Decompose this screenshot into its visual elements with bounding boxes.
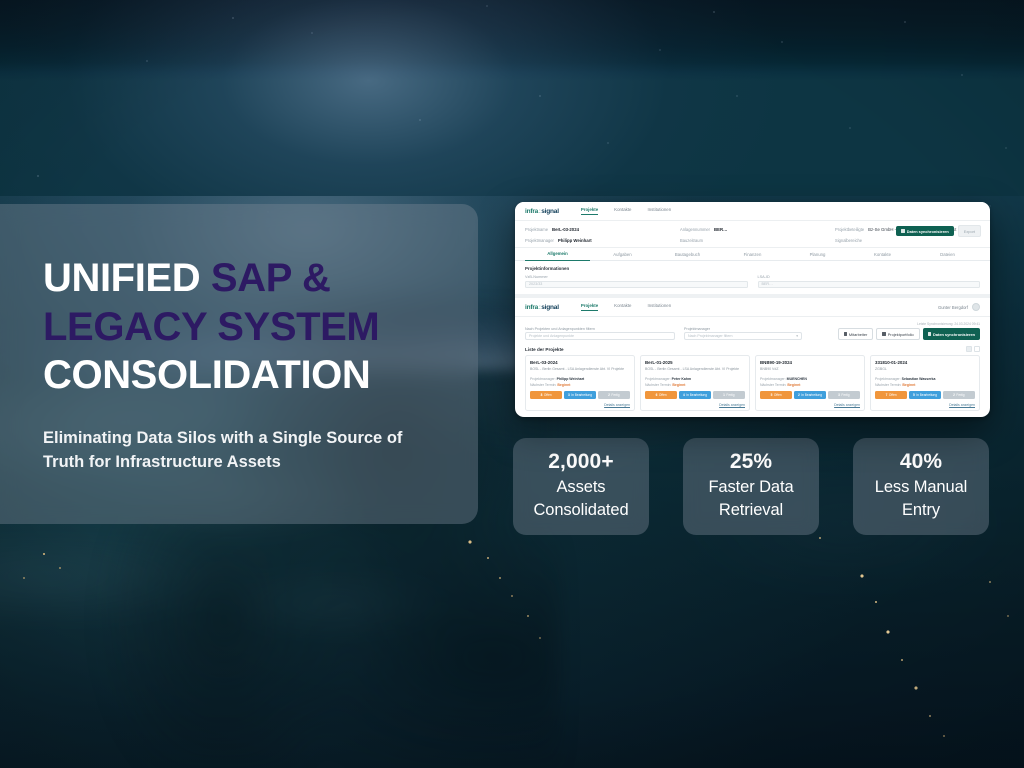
tab-finanzen[interactable]: Finanzen [720, 248, 785, 260]
badge-label: In Bearbeitung [801, 393, 822, 397]
manager-key: Projektmanager: [760, 377, 786, 381]
meta-signalbereiche: Signalbereiche [835, 238, 980, 243]
badge-count: 2 [608, 393, 610, 397]
badge-count: 3 [838, 393, 840, 397]
project-card-description: BNB90 VdZ [760, 367, 860, 375]
projektportfolio-button-label: Projektportfolio [888, 332, 914, 337]
filter-manager: Projektmanager Nach Projektmanager filte… [684, 327, 802, 341]
badge-count: 2 [953, 393, 955, 397]
headline-panel: UNIFIED SAP & LEGACY SYSTEM CONSOLIDATIO… [0, 204, 478, 524]
badge-count: 2 [798, 393, 800, 397]
meta-key: Signalbereiche [835, 238, 862, 243]
badge-label: Offen [544, 393, 552, 397]
stat-value: 2,000+ [529, 450, 633, 475]
user-area[interactable]: Gunter Bergdorf [938, 303, 980, 311]
slide-canvas: UNIFIED SAP & LEGACY SYSTEM CONSOLIDATIO… [0, 0, 1024, 768]
filter-actions: Letzte Synchronisierung: 24.03.2024 09:4… [838, 322, 980, 340]
filter-label: Nach Projekten und Anlagenpunkten filter… [525, 327, 675, 331]
stat-label-line-2: Entry [869, 500, 973, 521]
status-badge-fertig[interactable]: 2 Fertig [943, 391, 975, 399]
project-card-manager: Projektmanager: Sebastian Wasserka [875, 377, 975, 381]
project-card-due: Nächster Termin: Beginnt [645, 383, 745, 387]
badge-count: 4 [683, 393, 685, 397]
project-card-grid: BerL-03-2024 BOSL - Berlin Gesamt - LSA … [515, 355, 990, 417]
detail-panel-header-buttons: Daten synchronisieren Export [896, 225, 981, 237]
tab-planung[interactable]: Planung [785, 248, 850, 260]
logo-part-b: signal [541, 208, 559, 215]
stat-card-less-manual-entry: 40% Less Manual Entry [853, 438, 989, 535]
field-lsa-id: LSA-ID BER… [758, 275, 981, 288]
stat-label-line-1: Less Manual [869, 477, 973, 498]
project-card-details-link[interactable]: Details anzeigen [760, 403, 860, 407]
nav-item-kontakte[interactable]: Kontakte [614, 303, 631, 311]
project-card-due: Nächster Termin: Beginnt [875, 383, 975, 387]
page-subtitle: Eliminating Data Silos with a Single Sou… [43, 426, 434, 475]
project-card-details-link[interactable]: Details anzeigen [645, 403, 745, 407]
project-card-details-link[interactable]: Details anzeigen [875, 403, 975, 407]
due-key: Nächster Termin: [645, 383, 671, 387]
project-card-title: BerL-03-2024 [530, 360, 630, 365]
due-key: Nächster Termin: [530, 383, 556, 387]
badge-label: In Bearbeitung [571, 393, 592, 397]
status-badge-offen[interactable]: 7 Offen [875, 391, 907, 399]
sync-icon [928, 332, 931, 335]
project-card-description: BOSL - Berlin Gesamt - LSA Anlagendienst… [645, 367, 745, 375]
status-badges: 8 Offen 3 In Bearbeitung 2 Fertig [530, 391, 630, 399]
nav-item-institutionen[interactable]: Institutionen [648, 303, 672, 311]
list-panel-topbar: infra:signal Projekte Kontakte Instituti… [515, 298, 990, 317]
status-badge-in-bearbeitung[interactable]: 3 In Bearbeitung [564, 391, 596, 399]
filter-projects: Nach Projekten und Anlagenpunkten filter… [525, 327, 675, 341]
tab-dateien[interactable]: Dateien [915, 248, 980, 260]
headline-line-1-accent: SAP & [211, 256, 331, 300]
meta-anlagennummer: Anlagennummer BER… [680, 227, 825, 232]
status-badges: 7 Offen 5 In Bearbeitung 2 Fertig [875, 391, 975, 399]
badge-label: Fertig [726, 393, 734, 397]
headline-line-3-white: CONSOLIDATION [43, 353, 370, 397]
badge-label: Fertig [611, 393, 619, 397]
due-value: Beginnt [672, 383, 685, 387]
badge-count: 1 [723, 393, 725, 397]
project-card-description: BOSL - Berlin Gesamt - LSA Anlagendienst… [530, 367, 630, 375]
tab-bautagebuch[interactable]: Bautagebuch [655, 248, 720, 260]
badge-label: Fertig [841, 393, 849, 397]
badge-label: Fertig [956, 393, 964, 397]
stat-card-assets-consolidated: 2,000+ Assets Consolidated [513, 438, 649, 535]
nav-item-projekte[interactable]: Projekte [581, 207, 598, 215]
filter-label: Projektmanager [684, 327, 802, 331]
due-key: Nächster Termin: [875, 383, 901, 387]
app-logo-secondary[interactable]: infra:signal [525, 304, 559, 311]
badge-label: Offen [774, 393, 782, 397]
nav-item-projekte[interactable]: Projekte [581, 303, 598, 311]
manager-key: Projektmanager: [645, 377, 671, 381]
manager-value: Peter Kahm [672, 377, 691, 381]
stat-label-line-2: Consolidated [529, 500, 633, 521]
meta-value: BerL-03-2024 [552, 227, 579, 232]
manager-select[interactable]: Nach Projektmanager filtern ▾ [684, 332, 802, 340]
project-card-title: 331810-01-2024 [875, 360, 975, 365]
manager-value: MUENCHEN [787, 377, 807, 381]
sync-status-text: Letzte Synchronisierung: 24.03.2024 09:4… [917, 322, 980, 326]
portfolio-icon [882, 332, 885, 335]
section-title: Projektinformationen [525, 266, 980, 271]
stat-label-line-2: Retrieval [699, 500, 803, 521]
user-name: Gunter Bergdorf [938, 305, 968, 310]
list-title: Liste der Projekte [525, 347, 564, 352]
field-row: VzB-Nummer 2023/33 LSA-ID BER… [525, 275, 980, 288]
badge-label: Offen [659, 393, 667, 397]
status-badge-offen[interactable]: 5 Offen [760, 391, 792, 399]
due-key: Nächster Termin: [760, 383, 786, 387]
nav-item-kontakte[interactable]: Kontakte [614, 207, 631, 215]
list-view-icon[interactable] [974, 346, 980, 352]
status-badge-in-bearbeitung[interactable]: 5 In Bearbeitung [909, 391, 941, 399]
project-card-manager: Projektmanager: MUENCHEN [760, 377, 860, 381]
stat-value: 25% [699, 450, 803, 475]
meta-key: Bauzeitraum [680, 238, 703, 243]
headline-line-2-accent: LEGACY SYSTEM [43, 305, 379, 349]
stat-label-line-1: Faster Data [699, 477, 803, 498]
meta-value: Philipp Weinhart [558, 238, 592, 243]
meta-key: Projektbeteiligte [835, 227, 864, 232]
tab-aufgaben[interactable]: Aufgaben [590, 248, 655, 260]
sync-data-button[interactable]: Daten synchronisieren [896, 226, 953, 236]
projektinformationen-section: Projektinformationen VzB-Nummer 2023/33 … [515, 261, 990, 294]
app-logo[interactable]: infra:signal [525, 208, 559, 215]
manager-key: Projektmanager: [530, 377, 556, 381]
project-card-description: ZGBGL [875, 367, 975, 375]
meta-key: Projektname [525, 227, 548, 232]
nav-item-institutionen[interactable]: Institutionen [648, 207, 672, 215]
logo-part-b: signal [541, 304, 559, 311]
vzb-nummer-input[interactable]: 2023/33 [525, 281, 748, 289]
meta-bauzeitraum: Bauzeitraum [680, 238, 825, 243]
meta-projektname: Projektname BerL-03-2024 [525, 227, 670, 232]
badge-count: 3 [568, 393, 570, 397]
stat-value: 40% [869, 450, 973, 475]
detail-panel-topbar: infra:signal Projekte Kontakte Instituti… [515, 202, 990, 221]
status-badge-in-bearbeitung[interactable]: 2 In Bearbeitung [794, 391, 826, 399]
project-card-details-link[interactable]: Details anzeigen [530, 403, 630, 407]
project-card-title: BNB90-19-2024 [760, 360, 860, 365]
badge-count: 5 [913, 393, 915, 397]
stat-label-line-1: Assets [529, 477, 633, 498]
project-card[interactable]: 331810-01-2024 ZGBGL Projektmanager: Seb… [870, 355, 980, 411]
action-buttons: Mitarbeiter Projektportfolio Daten synch… [838, 328, 980, 340]
avatar[interactable] [972, 303, 980, 311]
project-card-due: Nächster Termin: Beginnt [760, 383, 860, 387]
project-card-manager: Projektmanager: Philipp Weinhart [530, 377, 630, 381]
project-card-due: Nächster Termin: Beginnt [530, 383, 630, 387]
project-card[interactable]: BerL-01-2025 BOSL - Berlin Gesamt - LSA … [640, 355, 750, 411]
status-badge-fertig[interactable]: 1 Fertig [713, 391, 745, 399]
badge-count: 5 [771, 393, 773, 397]
stats-row: 2,000+ Assets Consolidated 25% Faster Da… [513, 438, 989, 535]
meta-key: Projektmanager [525, 238, 554, 243]
app-screenshot-mockup: infra:signal Projekte Kontakte Instituti… [515, 202, 990, 417]
badge-count: 6 [656, 393, 658, 397]
meta-key: Anlagennummer [680, 227, 710, 232]
due-value: Beginnt [557, 383, 570, 387]
sync-data-button-label: Daten synchronisieren [907, 229, 949, 234]
detail-panel-tabbar: Allgemein Aufgaben Bautagebuch Finanzen … [515, 248, 990, 261]
sync-data-button-list[interactable]: Daten synchronisieren [923, 328, 980, 340]
detail-panel-nav: Projekte Kontakte Institutionen [581, 207, 671, 215]
stat-card-faster-data-retrieval: 25% Faster Data Retrieval [683, 438, 819, 535]
grid-view-icon[interactable] [966, 346, 972, 352]
chevron-down-icon: ▾ [796, 334, 798, 338]
people-icon [844, 332, 847, 335]
export-button[interactable]: Export [958, 225, 981, 237]
badge-count: 7 [886, 393, 888, 397]
meta-value: BER… [714, 227, 727, 232]
meta-projektmanager: Projektmanager Philipp Weinhart [525, 238, 670, 243]
status-badges: 6 Offen 4 In Bearbeitung 1 Fertig [645, 391, 745, 399]
field-vzb-nummer: VzB-Nummer 2023/33 [525, 275, 748, 288]
logo-part-a: infra [525, 208, 538, 215]
status-badges: 5 Offen 2 In Bearbeitung 3 Fertig [760, 391, 860, 399]
project-card-title: BerL-01-2025 [645, 360, 745, 365]
export-button-label: Export [964, 229, 975, 234]
mitarbeiter-button[interactable]: Mitarbeiter [838, 328, 874, 340]
project-card[interactable]: BerL-03-2024 BOSL - Berlin Gesamt - LSA … [525, 355, 635, 411]
field-label: LSA-ID [758, 275, 981, 279]
status-badge-fertig[interactable]: 2 Fertig [598, 391, 630, 399]
badge-label: In Bearbeitung [686, 393, 707, 397]
tab-kontakte[interactable]: Kontakte [850, 248, 915, 260]
status-badge-in-bearbeitung[interactable]: 4 In Bearbeitung [679, 391, 711, 399]
mitarbeiter-button-label: Mitarbeiter [849, 332, 867, 337]
logo-part-a: infra [525, 304, 538, 311]
badge-label: In Bearbeitung [916, 393, 937, 397]
sync-icon [901, 229, 904, 232]
field-label: VzB-Nummer [525, 275, 748, 279]
project-search-input[interactable]: Projekte und Anlagenpunkte [525, 332, 675, 340]
project-card-manager: Projektmanager: Peter Kahm [645, 377, 745, 381]
badge-label: Offen [889, 393, 897, 397]
badge-count: 8 [541, 393, 543, 397]
lsa-id-input[interactable]: BER… [758, 281, 981, 289]
project-card[interactable]: BNB90-19-2024 BNB90 VdZ Projektmanager: … [755, 355, 865, 411]
filter-bar: Nach Projekten und Anlagenpunkten filter… [515, 317, 990, 344]
view-toggle [966, 346, 980, 352]
sync-data-button-list-label: Daten synchronisieren [933, 332, 975, 337]
status-badge-offen[interactable]: 6 Offen [645, 391, 677, 399]
projektportfolio-button[interactable]: Projektportfolio [876, 328, 919, 340]
manager-value: Philipp Weinhart [557, 377, 585, 381]
status-badge-fertig[interactable]: 3 Fertig [828, 391, 860, 399]
list-header: Liste der Projekte [515, 344, 990, 355]
headline-line-1-white: UNIFIED [43, 256, 211, 300]
due-value: Beginnt [902, 383, 915, 387]
manager-key: Projektmanager: [875, 377, 901, 381]
manager-select-value: Nach Projektmanager filtern [688, 334, 733, 338]
page-title: UNIFIED SAP & LEGACY SYSTEM CONSOLIDATIO… [43, 254, 434, 400]
status-badge-offen[interactable]: 8 Offen [530, 391, 562, 399]
list-panel-nav: Projekte Kontakte Institutionen [581, 303, 671, 311]
due-value: Beginnt [787, 383, 800, 387]
manager-value: Sebastian Wasserka [902, 377, 936, 381]
tab-allgemein[interactable]: Allgemein [525, 248, 590, 261]
